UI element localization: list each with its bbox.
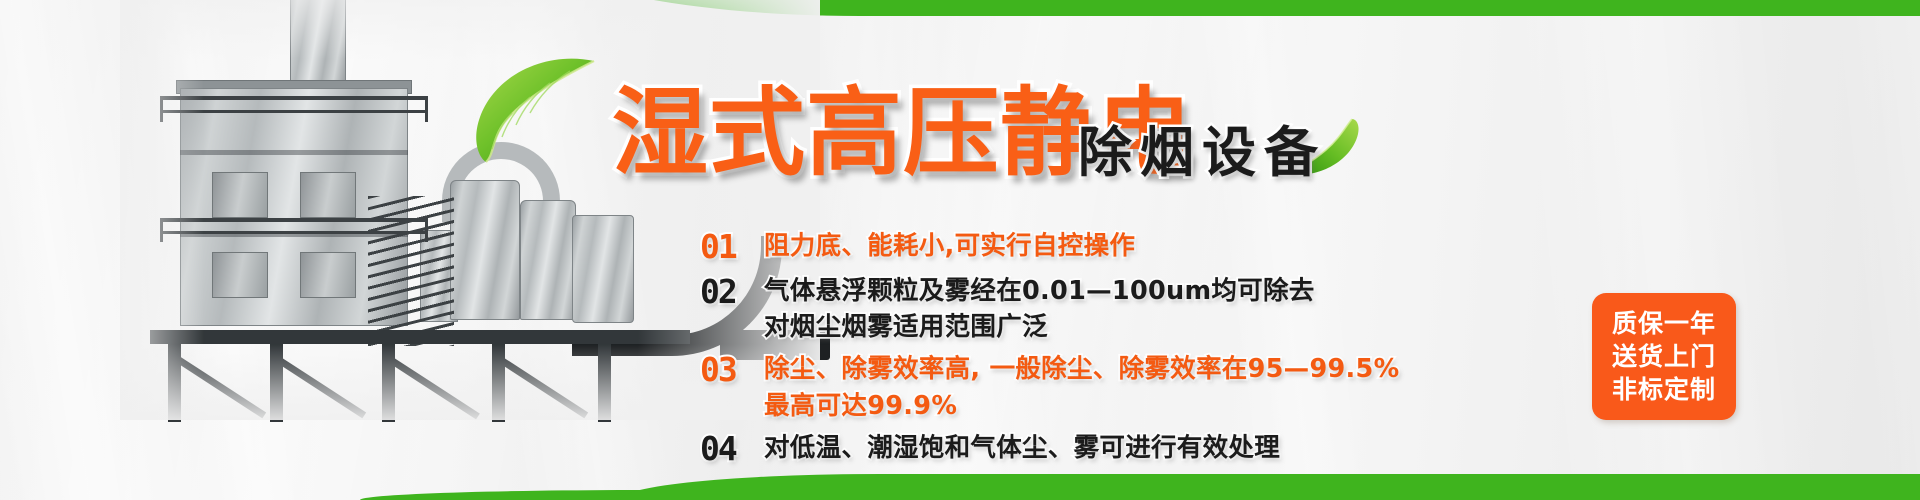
badge-line-delivery: 送货上门 [1612,342,1716,372]
feature-number: 02 [700,273,764,312]
feature-number: 03 [700,351,764,390]
feature-text: 气体悬浮颗粒及雾经在0.01—100um均可除去 [764,273,1315,309]
tower-hatch [212,252,268,298]
feature-text: 对烟尘烟雾适用范围广泛 [764,309,1315,345]
feature-row: 01 阻力底、能耗小,可实行自控操作 [700,228,1580,267]
support-leg [598,344,611,422]
cross-brace [270,353,366,419]
tower-hatch [212,172,268,218]
page-subtitle: 除烟设备 [1078,108,1326,187]
promotional-banner: 湿式高压静电 除烟设备 01 阻力底、能耗小,可实行自控操作 02 气体悬浮颗粒… [0,0,1920,500]
light-streak [1820,0,1920,500]
support-deck [150,330,690,344]
access-stair [368,196,454,346]
cross-brace [382,353,480,420]
feature-row: 02 气体悬浮颗粒及雾经在0.01—100um均可除去 对烟尘烟雾适用范围广泛 [700,273,1580,345]
handrail [160,96,428,122]
feature-text: 阻力底、能耗小,可实行自控操作 [764,228,1135,264]
guarantee-badge: 质保一年 送货上门 非标定制 [1592,293,1736,420]
feature-list: 01 阻力底、能耗小,可实行自控操作 02 气体悬浮颗粒及雾经在0.01—100… [700,228,1580,471]
tower-hatch [300,252,356,298]
feature-number: 04 [700,430,764,469]
chimney [290,0,346,90]
badge-line-warranty: 质保一年 [1612,309,1716,339]
feature-text: 除尘、除雾效率高, 一般除尘、除雾效率在95—99.5% [764,351,1399,387]
cross-brace [492,353,588,419]
feature-row: 03 除尘、除雾效率高, 一般除尘、除雾效率在95—99.5% 最高可达99.9… [700,351,1580,423]
tower-hatch [300,172,356,218]
feature-text: 最高可达99.9% [764,388,1399,424]
handrail-bar [160,110,428,113]
badge-line-custom: 非标定制 [1612,375,1716,405]
feature-row: 04 对低温、潮湿饱和气体尘、雾可进行有效处理 [700,430,1580,469]
feature-number: 01 [700,228,764,267]
feature-text: 对低温、潮湿饱和气体尘、雾可进行有效处理 [764,430,1280,466]
tower-seam [180,150,408,155]
scrubber-vessel [450,180,520,320]
scrubber-vessel [520,200,576,320]
green-corner-bottom [620,474,1920,500]
cross-brace [170,353,266,419]
